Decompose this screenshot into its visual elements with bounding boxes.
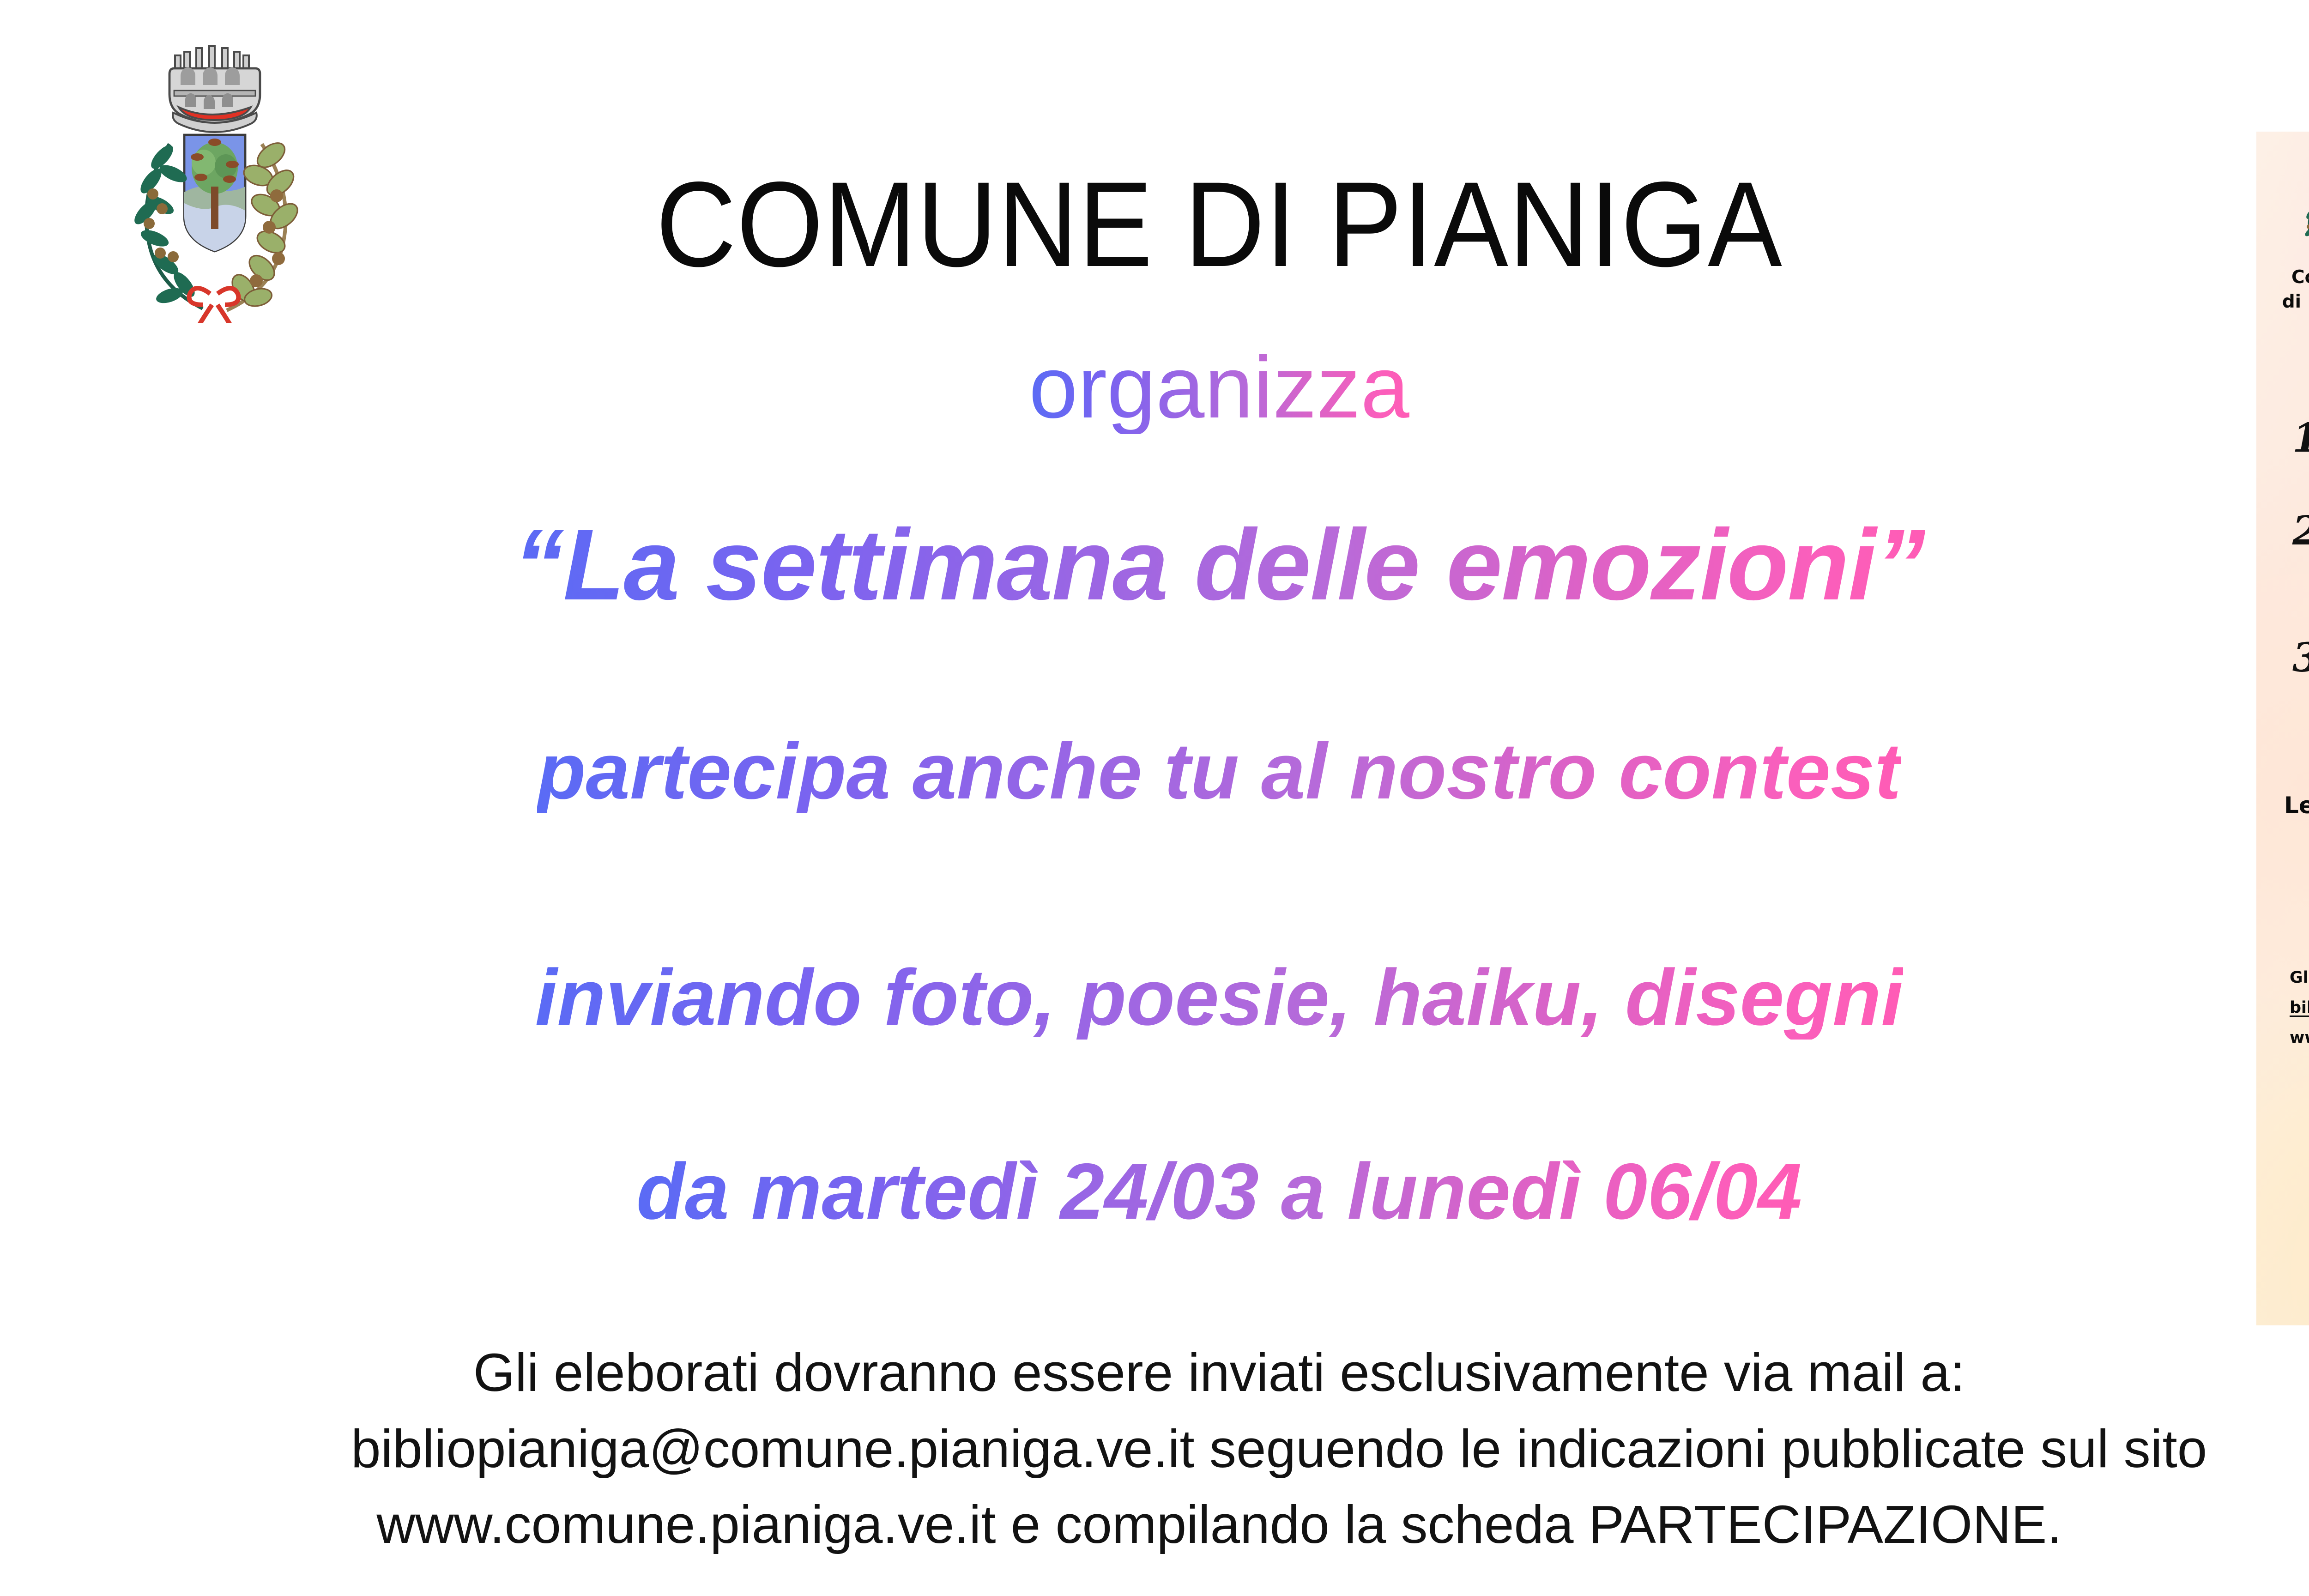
footnote-line-2: bibliopianiga@comune.pianiga.ve.it segue…: [351, 1411, 2087, 1487]
poster-comune-line1: Comune: [2270, 266, 2309, 290]
organizza-text: organizza: [1029, 342, 1409, 434]
footnote-block: Gli eleborati dovranno essere inviati es…: [351, 1335, 2087, 1563]
poster-coat-of-arms: [2283, 157, 2309, 263]
poster-email-link[interactable]: bibliopianiga@comune.pianiga.ve.it: [2290, 998, 2309, 1017]
poster-thumbnail[interactable]: Comune di Pianiga HAZARD Associazione di…: [2256, 132, 2309, 1325]
partecipa-line: partecipa anche tu al nostro contest: [351, 730, 2087, 813]
poster-intro-line1: Partecipa anche tu al nostro contest: [2307, 307, 2309, 343]
page-title: COMUNE DI PIANIGA: [420, 164, 2018, 285]
poster-step-2: 2 Gli elaborati verranno pubblicati IN A…: [2292, 483, 2309, 607]
poster-footer-line1: Gli eleborati dovranno essere inviati es…: [2290, 963, 2309, 993]
poster-step-1: 1 Invia un tuo elaborato che abbia per t…: [2292, 402, 2309, 464]
poster-footer-line2: bibliopianiga@comune.pianiga.ve.it segue…: [2290, 993, 2309, 1023]
inviando-line: inviando foto, poesie, haiku, disegni: [351, 956, 2087, 1040]
step-number-2: 2: [2292, 511, 2309, 551]
poster-footer: Gli eleborati dovranno essere inviati es…: [2290, 963, 2309, 1053]
event-title: “La settimana delle emozioni”: [351, 513, 2087, 618]
organizza-line: organizza: [351, 342, 2087, 434]
partecipa-text: partecipa anche tu al nostro contest: [537, 730, 1901, 813]
step-number-3: 3: [2292, 638, 2309, 678]
step-number-1: 1: [2292, 418, 2309, 458]
date-range-line: da martedì 24/03 a lunedì 06/04: [351, 1150, 2087, 1233]
poster-intro: Partecipa anche tu al nostro contest ded…: [2307, 307, 2309, 378]
one-entry-note: E' possibile inviare un solo elaborato p…: [2289, 907, 2309, 933]
poster-comune-label: Comune di Pianiga: [2270, 266, 2309, 314]
footnote-line-3: www.comune.pianiga.ve.it e compilando la…: [351, 1487, 2087, 1563]
flyer-page: COMUNE DI PIANIGA organizza “La settiman…: [0, 0, 2309, 1596]
poster-intro-line2: dedicato alla settimana delle emozioni!: [2307, 343, 2309, 378]
date-range-text: da martedì 24/03 a lunedì 06/04: [636, 1150, 1802, 1233]
coat-of-arms-crest: [81, 28, 339, 323]
poster-step-3: 3 Il più votato per ogni categoria sarà …: [2292, 610, 2309, 734]
event-title-text: “La settimana delle emozioni”: [514, 513, 1924, 618]
poster-comune-line2: di Pianiga: [2270, 290, 2309, 314]
footnote-line-1: Gli eleborati dovranno essere inviati es…: [351, 1335, 2087, 1411]
inviando-text: inviando foto, poesie, haiku, disegni: [535, 956, 1904, 1040]
categories-label: Le categorie sono:: [2284, 792, 2309, 819]
poster-footer-line3: www.comune.pianiga.ve.it e compilando la…: [2290, 1023, 2309, 1053]
